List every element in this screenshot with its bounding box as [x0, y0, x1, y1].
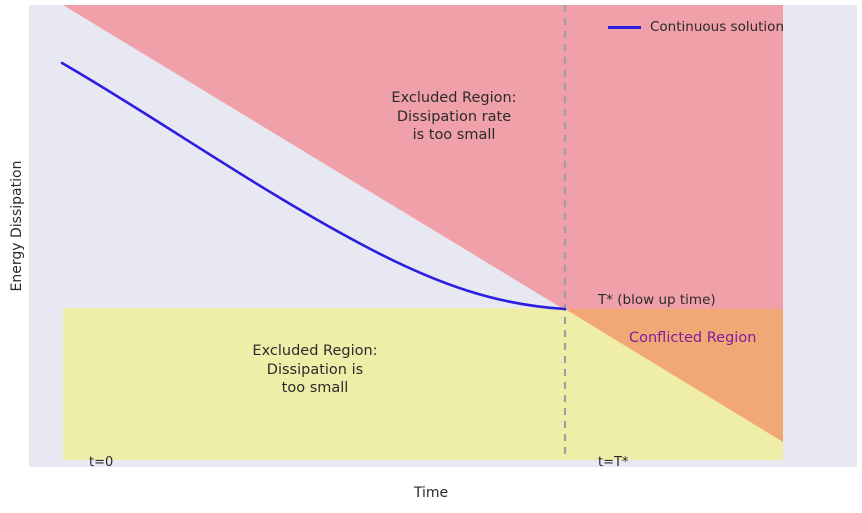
y-axis-label: Energy Dissipation: [9, 126, 25, 326]
regions-svg: [29, 5, 857, 467]
plot-area: Excluded Region: Dissipation rate is too…: [29, 5, 857, 467]
legend: Continuous solution: [608, 19, 784, 35]
region-excluded-dissipation-rate: [63, 5, 783, 310]
x-tick-label-t0: t=0: [89, 455, 113, 467]
x-axis-label: Time: [0, 485, 862, 501]
figure-canvas: Excluded Region: Dissipation rate is too…: [0, 0, 862, 513]
legend-swatch-continuous-solution: [608, 26, 641, 29]
x-tick-label-tstar: t=T*: [598, 455, 628, 467]
legend-label-continuous-solution: Continuous solution: [650, 19, 784, 35]
